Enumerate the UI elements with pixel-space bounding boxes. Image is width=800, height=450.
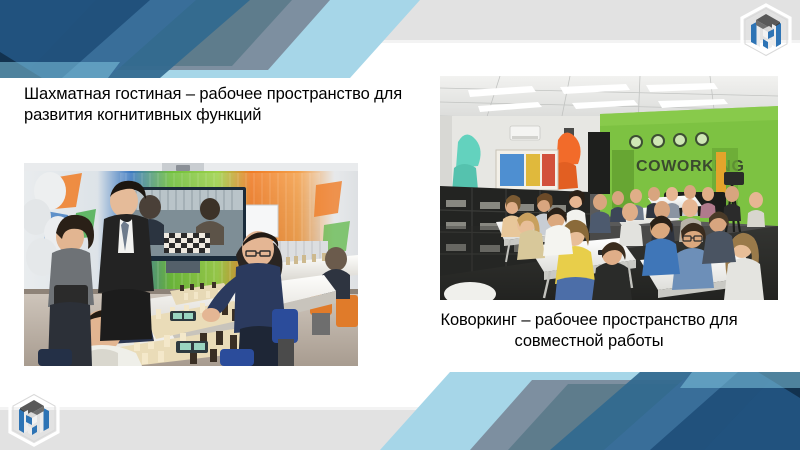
- coworking-caption: Коворкинг – рабочее пространство для сов…: [398, 310, 780, 353]
- top-gray-band: [0, 0, 800, 50]
- company-logo: [739, 3, 793, 61]
- chess-room-photo: [24, 163, 358, 366]
- slide-canvas: Шахматная гостиная – рабочее пространств…: [0, 0, 800, 450]
- coworking-photo: COWORKING: [440, 76, 778, 300]
- chess-caption: Шахматная гостиная – рабочее пространств…: [24, 84, 416, 127]
- bottom-gray-band: [0, 402, 800, 450]
- company-logo: [7, 389, 61, 447]
